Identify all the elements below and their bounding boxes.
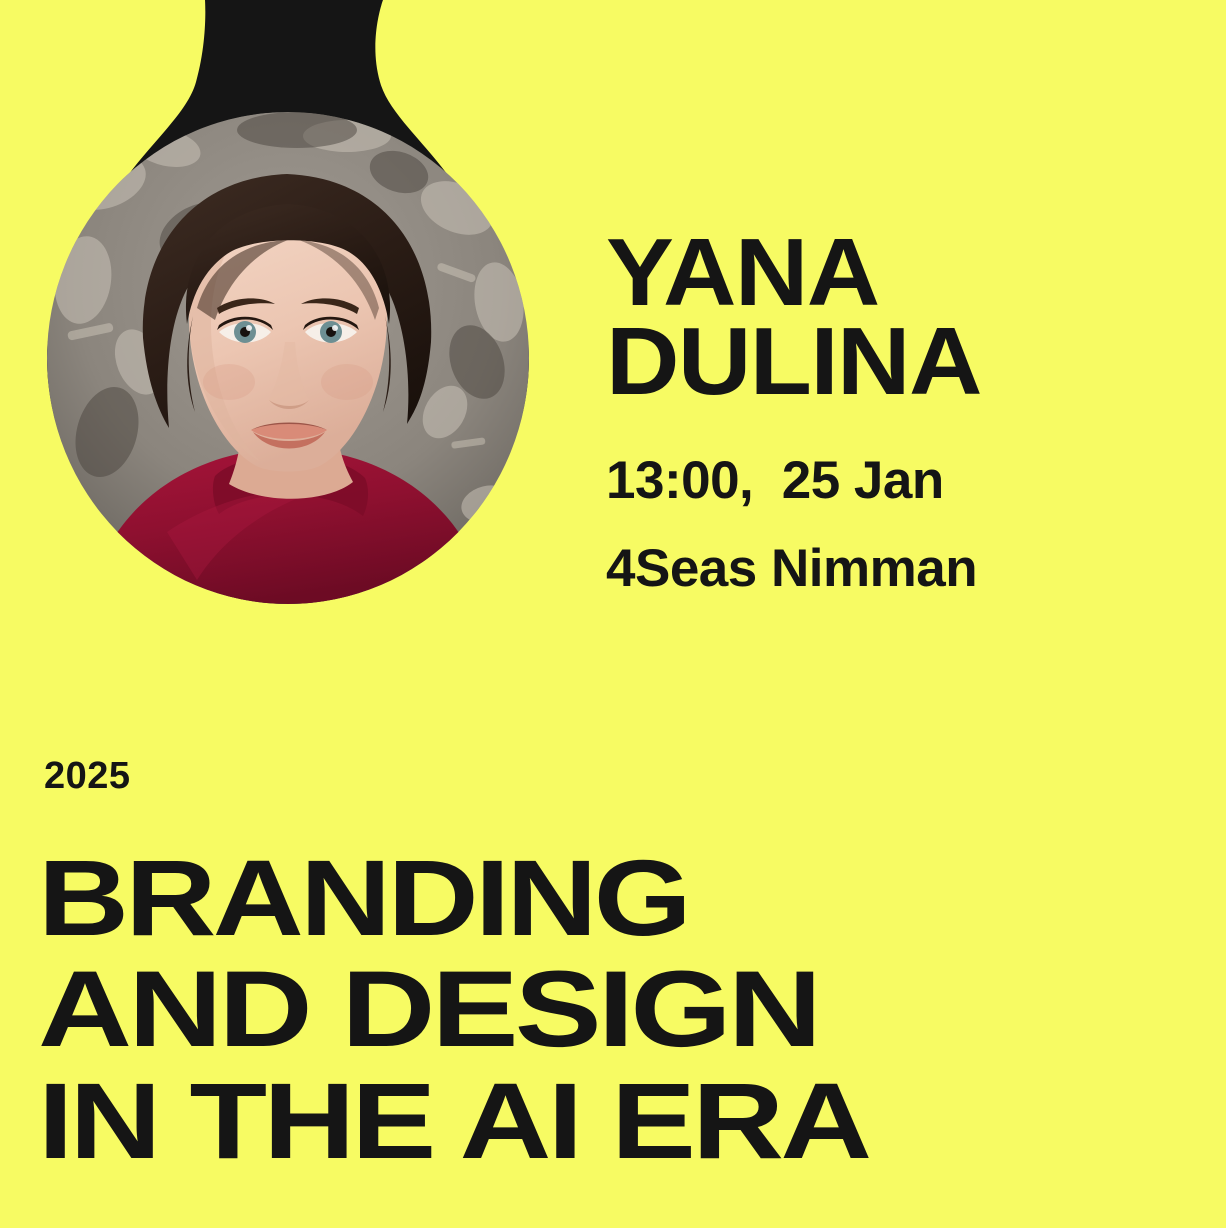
speaker-pin-group [0,0,620,640]
poster-headline: BRANDING AND DESIGN IN THE AI ERA [38,843,1218,1177]
speaker-info-block: YANA DULINA 13:00, 25 Jan 4Seas Nimman [606,228,1206,612]
headline-line-1: BRANDING [38,841,1226,956]
speaker-avatar [47,112,529,604]
event-year: 2025 [44,757,131,795]
speaker-name-line-2: DULINA [606,317,1226,406]
headline-line-2: AND DESIGN [38,953,1226,1068]
event-venue: 4Seas Nimman [606,525,1206,613]
headline-line-3: IN THE AI ERA [38,1064,1226,1179]
event-poster: YANA DULINA 13:00, 25 Jan 4Seas Nimman 2… [0,0,1226,1228]
speaker-name-line-1: YANA [606,228,1226,317]
event-time-date: 13:00, 25 Jan [606,437,1206,525]
